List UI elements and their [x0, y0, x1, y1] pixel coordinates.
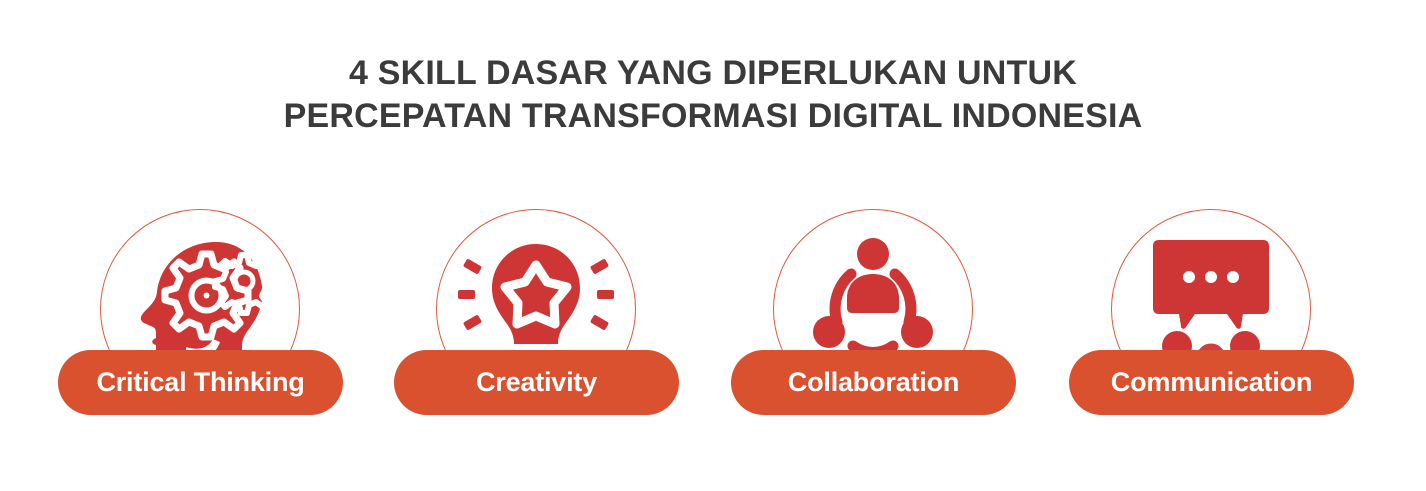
page-title-line-2: PERCEPATAN TRANSFORMASI DIGITAL INDONESI…	[0, 95, 1426, 138]
skill-label: Collaboration	[788, 367, 959, 398]
page-title-line-1: 4 SKILL DASAR YANG DIPERLUKAN UNTUK	[0, 52, 1426, 95]
skill-pill-communication[interactable]: Communication	[1069, 350, 1354, 415]
skill-pill-critical-thinking[interactable]: Critical Thinking	[58, 350, 343, 415]
skill-label: Critical Thinking	[96, 367, 304, 398]
skill-label: Creativity	[476, 367, 597, 398]
skill-card-creativity[interactable]: Creativity	[366, 200, 706, 430]
skill-card-communication[interactable]: Communication	[1041, 200, 1381, 430]
skill-pill-collaboration[interactable]: Collaboration	[731, 350, 1016, 415]
infographic-page: { "title": { "line1": "4 SKILL DASAR YAN…	[0, 0, 1426, 491]
skill-card-critical-thinking[interactable]: Critical Thinking	[30, 200, 370, 430]
skill-label: Communication	[1111, 367, 1312, 398]
skills-row: Critical Thinking	[0, 200, 1426, 440]
skill-card-collaboration[interactable]: Collaboration	[703, 200, 1043, 430]
page-title: 4 SKILL DASAR YANG DIPERLUKAN UNTUK PERC…	[0, 52, 1426, 138]
skill-pill-creativity[interactable]: Creativity	[394, 350, 679, 415]
